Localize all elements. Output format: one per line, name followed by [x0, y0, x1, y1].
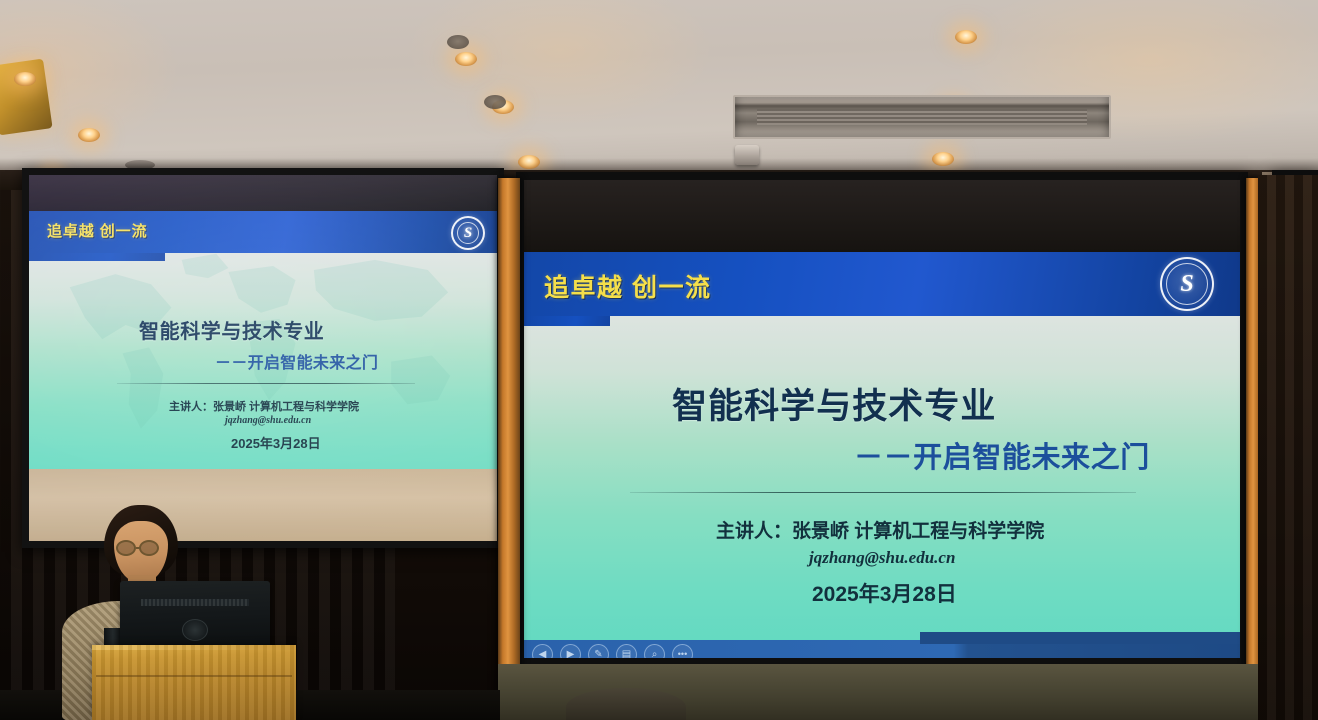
slide-title-center: 智能科学与技术专业 [672, 378, 996, 429]
slide-title-left: 智能科学与技术专业 [139, 315, 324, 344]
slide-divider-center [630, 492, 1136, 493]
slide-header-text-center: 追卓越 创一流 [544, 268, 711, 304]
monitor-logo [182, 619, 208, 641]
ceiling-downlight [955, 30, 977, 44]
foreground-desk [566, 688, 686, 720]
ceiling-projector [735, 145, 759, 165]
slide-overview-button[interactable]: ▤ [616, 644, 637, 658]
slide-presenter-line-center: 主讲人：张景峤 计算机工程与科学学院 [716, 516, 1044, 543]
slide-center: 追卓越 创一流 S 智能科学与技术专业 －－开启智能未来之门 主讲人：张景峤 计… [524, 252, 1240, 652]
ac-vent [733, 95, 1111, 139]
ceiling-downlight [932, 152, 954, 166]
presenter-glasses-left-lens [116, 540, 136, 556]
next-slide-button[interactable]: ▶ [560, 644, 581, 658]
presenter-monitor [120, 581, 270, 649]
slide-left: 追卓越 创一流 S 智能科学与技术专业 －－开启智能未来之门 主讲人：张景峤 计… [29, 211, 497, 503]
more-options-button[interactable]: ••• [672, 644, 693, 658]
slide-header-step-left [29, 253, 165, 261]
powerpoint-presenter-toolbar[interactable]: ◀▶✎▤⌕••• [532, 644, 693, 658]
podium [92, 645, 296, 720]
ceiling [0, 0, 1318, 176]
slide-email-left: jqzhang@shu.edu.cn [225, 415, 311, 426]
pen-annotation-button[interactable]: ✎ [588, 644, 609, 658]
projection-screen-center: 追卓越 创一流 S 智能科学与技术专业 －－开启智能未来之门 主讲人：张景峤 计… [516, 172, 1248, 666]
podium-edge-line [96, 675, 292, 677]
ceiling-downlight-off [447, 35, 469, 49]
wooden-pillar-left [498, 178, 520, 720]
ceiling-downlight [518, 155, 540, 169]
slide-header-text-left: 追卓越 创一流 [47, 220, 147, 241]
ceiling-downlight [14, 72, 36, 86]
slide-email-center: jqzhang@shu.edu.cn [809, 548, 955, 568]
slide-date-center: 2025年3月28日 [812, 578, 957, 608]
slide-top-dark-band-center [524, 180, 1240, 252]
ceiling-downlight-off [484, 95, 506, 109]
ceiling-downlight [455, 52, 477, 66]
ceiling-downlight [78, 128, 100, 142]
projection-screen-left: 追卓越 创一流 S 智能科学与技术专业 －－开启智能未来之门 主讲人：张景峤 计… [22, 168, 504, 548]
slide-presenter-line-left: 主讲人：张景峤 计算机工程与科学学院 [169, 398, 359, 414]
slide-top-dark-band-left [29, 175, 497, 211]
slide-footer-step-center [920, 632, 1240, 644]
slide-subtitle-left: －－开启智能未来之门 [215, 349, 378, 373]
podium-wood-grain [92, 645, 296, 720]
presenter-glasses-right-lens [139, 540, 159, 556]
previous-slide-button[interactable]: ◀ [532, 644, 553, 658]
slide-divider-left [117, 383, 415, 384]
monitor-vent-strip [141, 599, 249, 606]
stage-curtain-right [1258, 175, 1318, 720]
slide-subtitle-center: －－开启智能未来之门 [854, 434, 1150, 476]
presenter-glasses-bridge [136, 547, 141, 549]
lecture-hall-scene: 追卓越 创一流 S 智能科学与技术专业 －－开启智能未来之门 主讲人：张景峤 计… [0, 0, 1318, 720]
shanghai-university-seal-icon-left: S [451, 216, 485, 250]
slide-date-left: 2025年3月28日 [231, 433, 321, 452]
slide-header-step-center [524, 316, 610, 326]
zoom-magnifier-button[interactable]: ⌕ [644, 644, 665, 658]
shanghai-university-seal-icon-center: S [1160, 257, 1214, 311]
